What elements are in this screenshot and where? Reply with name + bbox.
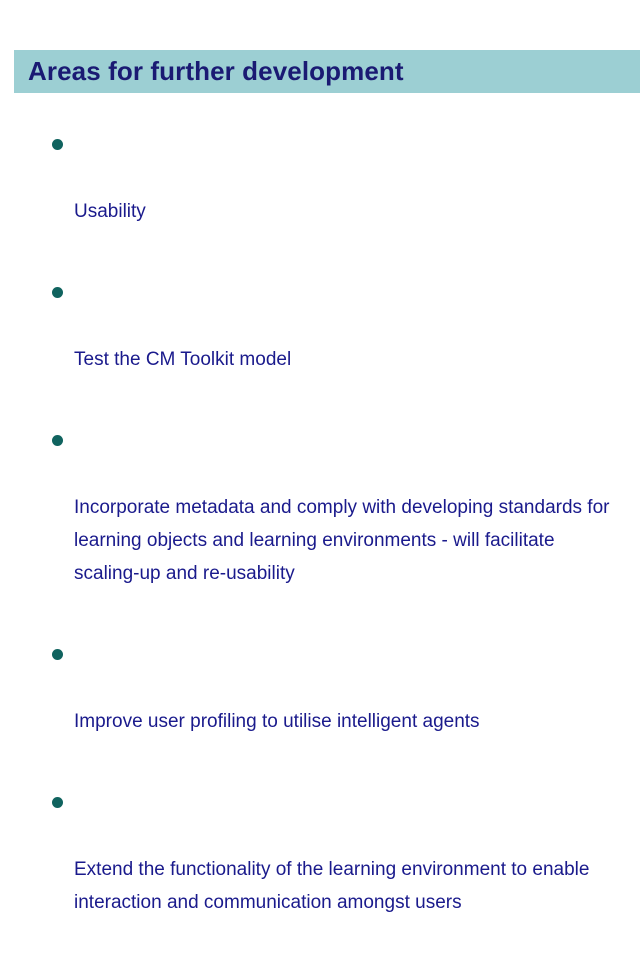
- list-item-label: Test the CM Toolkit model: [74, 343, 612, 376]
- list-item: Extend the functionality of the learning…: [52, 787, 612, 952]
- bullet-dot-icon: [52, 649, 63, 660]
- bullet-dot-icon: [52, 435, 63, 446]
- bullet-dot-icon: [52, 139, 63, 150]
- list-item-label: Extend the functionality of the learning…: [74, 853, 612, 919]
- bullet-list: Usability Test the CM Toolkit model Inco…: [52, 129, 612, 960]
- list-item-label: Incorporate metadata and comply with dev…: [74, 491, 612, 590]
- slide-canvas: Areas for further development Usability …: [0, 0, 640, 480]
- list-item: Improve user profiling to utilise intell…: [52, 639, 612, 771]
- list-item: Test the CM Toolkit model: [52, 277, 612, 409]
- list-item-label: Improve user profiling to utilise intell…: [74, 705, 612, 738]
- bullet-dot-icon: [52, 287, 63, 298]
- list-item-label: Usability: [74, 195, 612, 228]
- list-item: Incorporate metadata and comply with dev…: [52, 425, 612, 623]
- page-title: Areas for further development: [28, 53, 404, 90]
- list-item: Usability: [52, 129, 612, 261]
- slide-title-bar: Areas for further development: [14, 50, 640, 93]
- bullet-dot-icon: [52, 797, 63, 808]
